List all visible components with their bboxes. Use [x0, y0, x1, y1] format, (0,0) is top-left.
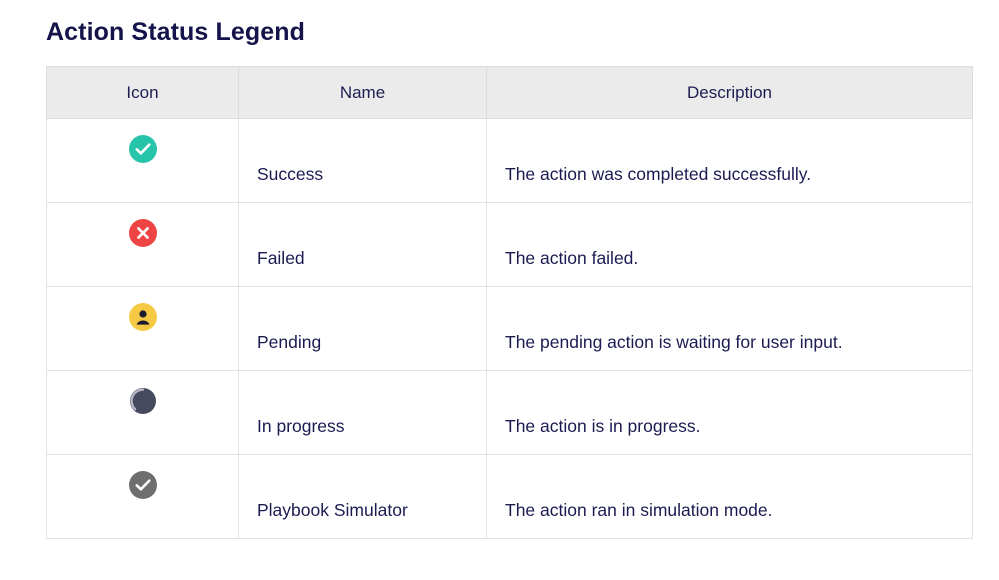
column-header-name: Name [239, 67, 487, 119]
cell-icon [47, 287, 239, 371]
cell-description: The action ran in simulation mode. [487, 455, 973, 539]
cell-name: Playbook Simulator [239, 455, 487, 539]
table-header-row: Icon Name Description [47, 67, 973, 119]
column-header-description: Description [487, 67, 973, 119]
table-row: In progressThe action is in progress. [47, 371, 973, 455]
table-row: FailedThe action failed. [47, 203, 973, 287]
table-row: SuccessThe action was completed successf… [47, 119, 973, 203]
table-row: PendingThe pending action is waiting for… [47, 287, 973, 371]
cell-icon [47, 203, 239, 287]
table-header: Icon Name Description [47, 67, 973, 119]
table-body: SuccessThe action was completed successf… [47, 119, 973, 539]
cell-name: In progress [239, 371, 487, 455]
cell-description: The action is in progress. [487, 371, 973, 455]
playbook-simulator-check-icon [129, 471, 157, 499]
cell-name: Failed [239, 203, 487, 287]
table-row: Playbook SimulatorThe action ran in simu… [47, 455, 973, 539]
action-status-legend-page: Action Status Legend Icon Name Descripti… [0, 0, 999, 580]
cell-name: Success [239, 119, 487, 203]
cell-icon [47, 371, 239, 455]
cell-name: Pending [239, 287, 487, 371]
cell-description: The action failed. [487, 203, 973, 287]
action-status-legend-table: Icon Name Description SuccessThe action … [46, 66, 973, 539]
cell-description: The pending action is waiting for user i… [487, 287, 973, 371]
success-check-icon [129, 135, 157, 163]
column-header-icon: Icon [47, 67, 239, 119]
failed-cross-icon [129, 219, 157, 247]
in-progress-spinner-icon [129, 387, 157, 415]
cell-icon [47, 119, 239, 203]
pending-user-icon [129, 303, 157, 331]
cell-description: The action was completed successfully. [487, 119, 973, 203]
cell-icon [47, 455, 239, 539]
page-title: Action Status Legend [46, 18, 305, 47]
